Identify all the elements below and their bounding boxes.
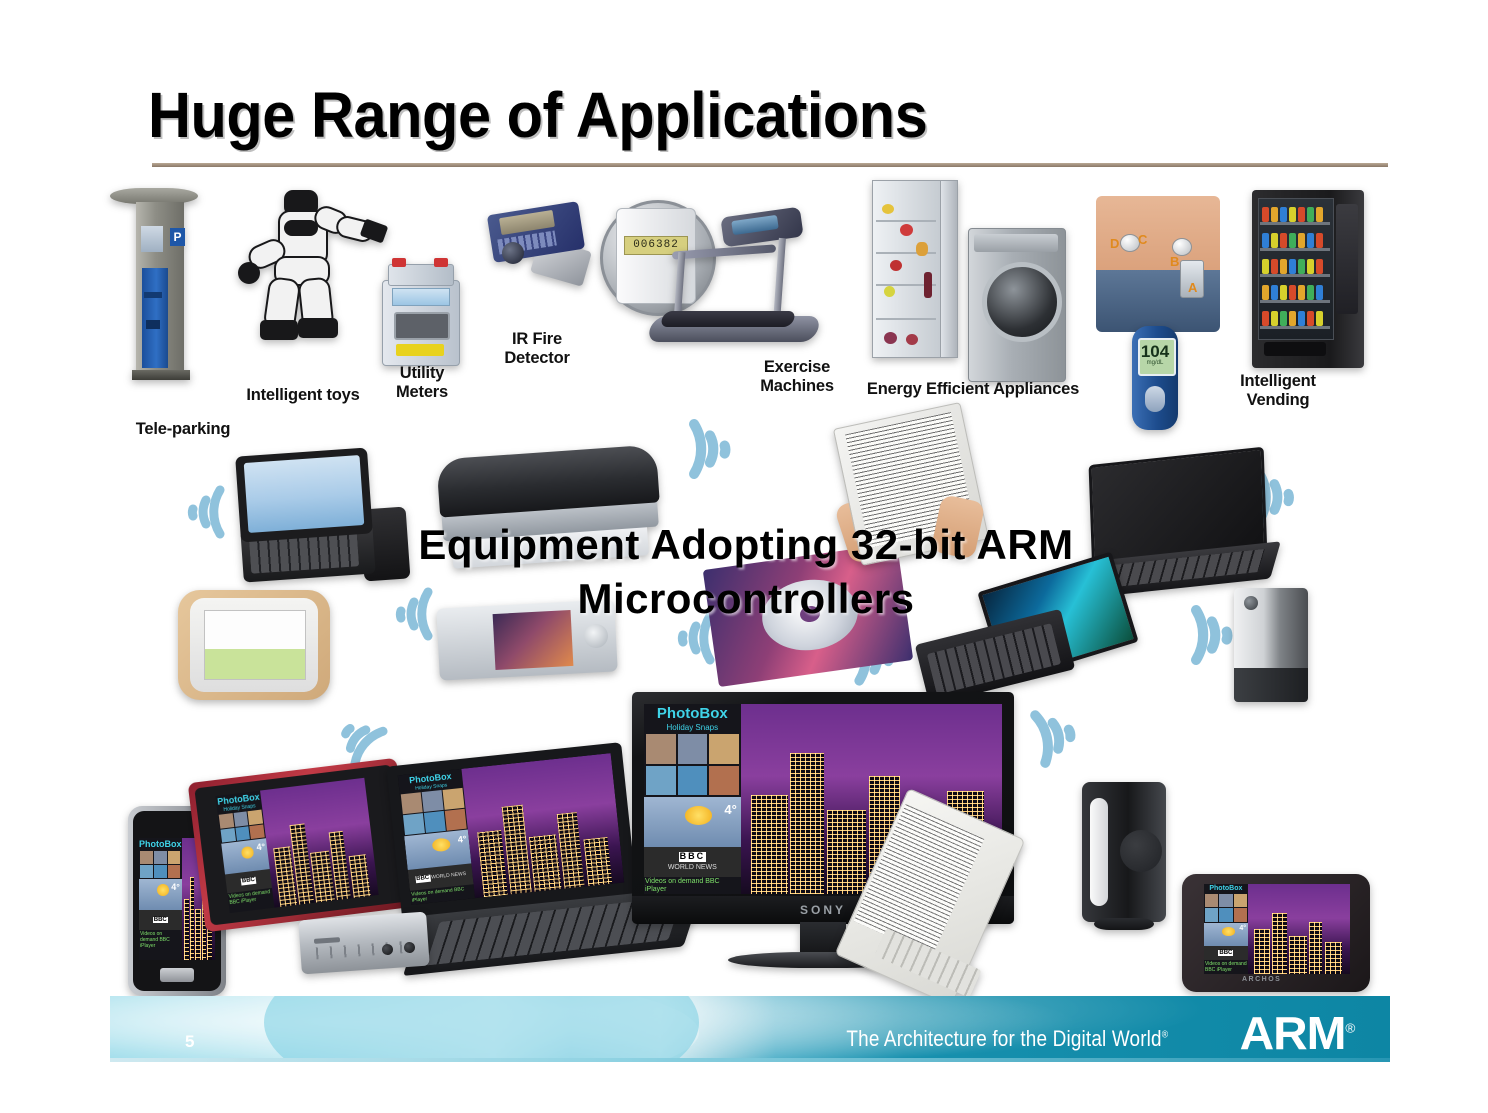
news-widget: BBC [139, 910, 182, 930]
device-utility-meter [382, 258, 462, 368]
photobox-title: PhotoBox [644, 704, 741, 723]
temperature-value: 4° [171, 882, 180, 892]
news-brand: BBC [153, 917, 168, 924]
fridge-shelf [876, 220, 936, 222]
settop-box-front-strip [1090, 798, 1108, 906]
photo-thumb [235, 826, 250, 841]
sun-icon [685, 806, 712, 825]
news-brand: BBC [241, 877, 257, 885]
fridge-food-item [884, 286, 895, 297]
vending-product [1289, 311, 1296, 326]
photobox-sidebar: PhotoBox 4° BBC Videos on demand BBC iPl… [139, 838, 182, 960]
building [1289, 936, 1307, 974]
camera-phone-screen[interactable] [493, 610, 574, 670]
photo-thumb [154, 865, 167, 878]
photo-thumb [220, 828, 235, 843]
vending-product [1316, 311, 1323, 326]
city-skyline-wallpaper [1248, 884, 1350, 974]
device-robot-toy [232, 186, 392, 366]
weather-widget: 4° [644, 797, 741, 846]
fridge-food-item [882, 204, 894, 214]
caption-intelligent-toys: Intelligent toys [238, 386, 368, 405]
device-body-sensors: D C B A [1096, 196, 1224, 336]
caption-tele-parking: Tele-parking [118, 420, 248, 439]
vending-product [1307, 311, 1314, 326]
settop-base [1234, 668, 1308, 702]
sensor-tag-b: B [1170, 254, 1179, 269]
vending-product [1289, 259, 1296, 274]
device-slider-smartphone [238, 452, 414, 584]
device-inkjet-printer [438, 452, 668, 572]
device-ereader-newspaper [846, 414, 996, 564]
city-skyline-wallpaper [462, 753, 625, 898]
kiosk-card-slot [144, 292, 162, 298]
kiosk-blue-panel [142, 268, 168, 368]
building [190, 877, 195, 960]
temperature-value: 4° [256, 842, 266, 853]
vending-product [1271, 311, 1278, 326]
kiosk-ticket-slot [146, 320, 160, 329]
sensor-tag-c: C [1138, 232, 1147, 247]
news-label: WORLD NEWS [431, 871, 466, 881]
vending-product [1316, 233, 1323, 248]
news-widget: BBC [1204, 946, 1248, 960]
footer-swoop-accent [264, 996, 699, 1062]
caption-ir-fire-detector: IR Fire Detector [482, 330, 592, 369]
fridge-food-item [900, 224, 913, 236]
device-silver-settop [1234, 588, 1314, 714]
sensor-tag-a: A [1188, 280, 1197, 295]
dell-photobox-screen[interactable]: PhotoBox Holiday Snaps 4° BBC WORLD NEWS [398, 753, 624, 905]
vending-product [1307, 207, 1314, 222]
sun-icon [157, 884, 169, 896]
fridge-food-item [890, 260, 902, 271]
photo-thumb [248, 810, 263, 825]
photo-thumb [219, 813, 234, 828]
glucose-unit: mg/dL [1138, 360, 1172, 366]
tablet-photobox-screen[interactable]: PhotoBox Holiday Snaps 4° BBC Vid [215, 778, 378, 913]
news-brand: BBC [1218, 950, 1233, 957]
fridge-door [940, 180, 958, 358]
photobox-thumb-grid [139, 850, 182, 879]
gallery-label: Holiday Snaps [644, 723, 741, 732]
sun-icon [241, 846, 255, 859]
vending-shelf [1260, 300, 1330, 303]
photo-thumb [1234, 894, 1247, 907]
temperature-value: 4° [724, 802, 736, 817]
robot-foot-left [260, 320, 298, 340]
vending-product [1280, 285, 1287, 300]
vending-product [1280, 233, 1287, 248]
vending-product [1298, 259, 1305, 274]
device-red-tablet: PhotoBox Holiday Snaps 4° BBC Vid [188, 758, 415, 932]
photo-thumb [424, 811, 446, 833]
photo-thumb [1234, 908, 1247, 921]
photo-thumb [1205, 908, 1218, 921]
building [1325, 942, 1341, 974]
photo-thumb [646, 766, 676, 796]
vending-product [1298, 233, 1305, 248]
meter-yellow-label [396, 344, 444, 356]
building [348, 854, 370, 898]
photo-thumb [1219, 908, 1232, 921]
archos-photobox-screen[interactable]: PhotoBox 4° BBC Videos on demand BBC iPl… [1204, 884, 1350, 974]
washer-control-panel [974, 234, 1058, 252]
vending-product [1298, 285, 1305, 300]
photo-thumb [250, 824, 265, 839]
vending-product [1316, 285, 1323, 300]
photo-thumb [445, 809, 467, 831]
city-skyline-wallpaper [260, 778, 379, 908]
robot-chest-panel [284, 220, 318, 236]
building [1254, 929, 1270, 974]
photo-thumb [678, 734, 708, 764]
photo-thumb [401, 792, 423, 814]
photobox-sidebar: PhotoBox 4° BBC Videos on demand BBC iPl… [1204, 884, 1248, 974]
device-home-health-monitor [178, 590, 334, 702]
photo-thumb [140, 851, 153, 864]
vending-product [1262, 233, 1269, 248]
weather-widget: 4° [404, 830, 471, 870]
vending-product [1262, 311, 1269, 326]
fridge-bottle [924, 272, 932, 298]
photobox-thumb-grid [1204, 893, 1248, 923]
vending-dispense-tray [1264, 342, 1326, 356]
news-widget: BBC WORLD NEWS [644, 847, 741, 877]
device-clamshell-netbook [920, 570, 1130, 710]
device-kindle-ereader [866, 806, 1046, 1006]
vod-label: Videos on demand BBC iPlayer [644, 877, 741, 894]
title-divider [152, 163, 1388, 167]
building [557, 812, 584, 889]
settop-dial[interactable] [1244, 596, 1258, 610]
news-label: WORLD NEWS [668, 864, 717, 871]
wifi-arc-icon [368, 576, 444, 652]
vending-product [1280, 259, 1287, 274]
photo-thumb [233, 811, 248, 826]
news-brand: BBC [679, 852, 707, 862]
caption-utility-meters: Utility Meters [372, 364, 472, 403]
device-vending-machine [1252, 190, 1368, 380]
photo-thumb [168, 851, 181, 864]
weather-widget: 4° [221, 839, 269, 875]
robot-foot-right [298, 318, 338, 338]
device-parking-kiosk: P [128, 188, 198, 388]
page-number: 5 [185, 1032, 194, 1052]
vending-product [1271, 259, 1278, 274]
parking-p-sign: P [170, 228, 185, 246]
meter-dial [394, 312, 450, 340]
washer-door [982, 262, 1062, 342]
photo-thumb [678, 766, 708, 796]
glucose-reading: 104 [1138, 342, 1172, 362]
building [790, 753, 824, 894]
building [195, 909, 201, 960]
smartphone-home-button[interactable] [160, 968, 194, 982]
footer-tagline-text: The Architecture for the Digital World [846, 1026, 1161, 1051]
device-treadmill [650, 212, 830, 352]
glucose-meter-button[interactable] [1145, 386, 1165, 412]
vending-product [1316, 259, 1323, 274]
wifi-arc-icon [676, 406, 762, 492]
temperature-value: 4° [457, 833, 467, 844]
photo-thumb [154, 851, 167, 864]
device-refrigerator [872, 180, 964, 360]
fridge-food-item [906, 334, 918, 345]
device-camera-phone [438, 604, 624, 684]
fridge-food-item [884, 332, 897, 344]
vending-product [1280, 207, 1287, 222]
weather-widget: 4° [1204, 923, 1248, 946]
device-archos-tablet: PhotoBox 4° BBC Videos on demand BBC iPl… [1182, 874, 1370, 992]
vending-keypad-panel[interactable] [1336, 204, 1358, 314]
treadmill-belt [659, 311, 796, 327]
photo-thumb [443, 788, 465, 810]
device-ir-fire-detector [490, 208, 600, 300]
footer-bottom-edge [110, 1058, 1390, 1062]
vending-product [1262, 207, 1269, 222]
vending-product [1289, 285, 1296, 300]
vending-shelf [1260, 326, 1330, 329]
vending-product [1307, 233, 1314, 248]
building [584, 837, 613, 886]
temperature-value: 4° [1239, 925, 1246, 932]
kiosk-screen [141, 226, 163, 252]
photo-thumb [140, 865, 153, 878]
fridge-shelf [876, 318, 936, 320]
sensor-pad-c [1120, 234, 1140, 252]
building [184, 899, 189, 960]
monitor-screen[interactable] [204, 610, 306, 680]
footer-tagline-mark: ® [1161, 1030, 1168, 1041]
meter-window [392, 288, 450, 306]
tablet-brand-label: ARCHOS [1242, 976, 1322, 986]
robot-hand-left [238, 262, 260, 284]
device-optical-disc [710, 556, 906, 678]
vending-product [1271, 233, 1278, 248]
slide-canvas: Huge Range of Applications P Tele-parkin… [0, 0, 1488, 1113]
building [1272, 913, 1286, 974]
device-glucose-meter: 104 mg/dL [1132, 326, 1182, 436]
vending-product [1298, 311, 1305, 326]
vending-product [1271, 207, 1278, 222]
photobox-title: PhotoBox [1204, 884, 1248, 893]
sensor-tag-d: D [1110, 236, 1119, 251]
arm-logo: ARM® [1239, 1010, 1354, 1056]
treadmill-handlebar [672, 244, 776, 259]
settop-box-emblem [1120, 830, 1162, 872]
vending-shelf [1260, 274, 1330, 277]
sun-icon [432, 838, 451, 853]
photo-thumb [1205, 894, 1218, 907]
vending-product [1271, 285, 1278, 300]
photo-thumb [709, 766, 739, 796]
photobox-title: PhotoBox [139, 838, 182, 850]
vod-label: Videos on demand BBC iPlayer [1204, 960, 1248, 974]
meter-cap-right [434, 258, 448, 267]
news-brand: BBC [415, 875, 431, 883]
caption-exercise-machines: Exercise Machines [742, 358, 852, 397]
footer-tagline: The Architecture for the Digital World® [846, 1026, 1168, 1052]
photo-thumb [422, 790, 444, 812]
caption-energy-appliances: Energy Efficient Appliances [858, 380, 1088, 399]
building [827, 810, 866, 894]
arm-logo-mark: ® [1345, 1021, 1354, 1036]
vending-shelf [1260, 222, 1330, 225]
vending-product [1307, 285, 1314, 300]
vending-product [1280, 311, 1287, 326]
vending-shelf [1260, 248, 1330, 251]
phone-screen[interactable] [244, 455, 365, 533]
weather-widget: 4° [139, 879, 182, 911]
photo-thumb [168, 865, 181, 878]
page-title: Huge Range of Applications [148, 78, 927, 152]
wifi-arc-icon [160, 474, 236, 550]
vending-product [1289, 207, 1296, 222]
photo-thumb [646, 734, 676, 764]
vod-label: Videos on demand BBC iPlayer [139, 930, 182, 950]
device-media-box [300, 916, 440, 976]
sun-icon [1222, 927, 1234, 936]
meter-cap-left [392, 258, 406, 267]
fridge-food-item [916, 242, 928, 256]
vending-product [1262, 285, 1269, 300]
arm-logo-text: ARM [1239, 1007, 1345, 1059]
device-black-settop-box [1082, 782, 1182, 942]
photobox-thumb-grid [400, 787, 468, 837]
building [751, 795, 788, 894]
building [529, 835, 562, 892]
vending-product [1307, 259, 1314, 274]
photo-thumb [709, 734, 739, 764]
caption-intelligent-vending: Intelligent Vending [1218, 372, 1338, 411]
device-washing-machine [968, 228, 1068, 384]
vending-product [1298, 207, 1305, 222]
detector-lens [502, 242, 524, 264]
building [1309, 922, 1322, 974]
photobox-thumb-grid [644, 732, 741, 797]
photobox-sidebar: PhotoBox Holiday Snaps 4° BBC WORLD NEWS [644, 704, 741, 894]
vending-product [1316, 207, 1323, 222]
photo-thumb [1219, 894, 1232, 907]
meter-top-housing [388, 264, 454, 286]
settop-box-stand [1094, 918, 1154, 930]
vending-product [1289, 233, 1296, 248]
slide-footer: 5 The Architecture for the Digital World… [110, 996, 1390, 1062]
vending-product [1262, 259, 1269, 274]
kiosk-base [132, 370, 190, 380]
building [477, 830, 508, 897]
photo-thumb [403, 813, 425, 835]
